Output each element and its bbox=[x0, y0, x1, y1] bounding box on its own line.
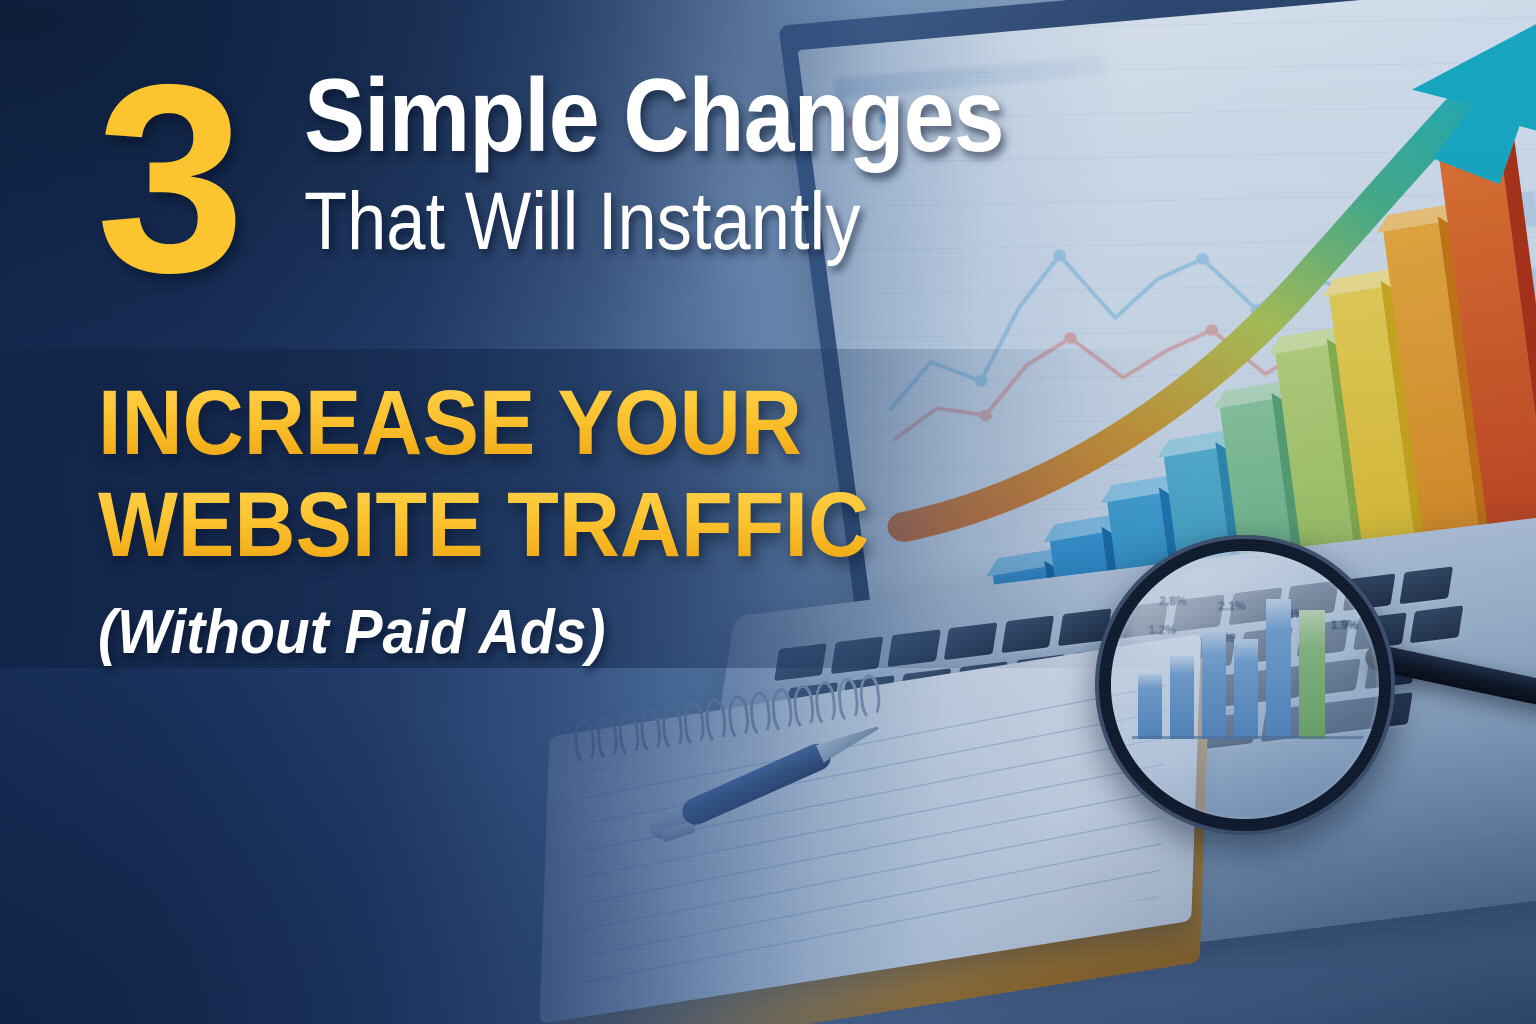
main-heading-subline: (Without Paid Ads) bbox=[98, 598, 1018, 668]
headline-numeral: 3 bbox=[96, 44, 239, 312]
hero-graphic: 2.8% 2.1% 2.6% 1.9% 1.2% 1.8% 3 bbox=[0, 0, 1536, 1024]
kicker-block: 3 Simple Changes That Will Instantly bbox=[96, 48, 1076, 328]
kicker-lines: Simple Changes That Will Instantly bbox=[304, 60, 1099, 268]
main-heading-line-2: WEBSITE TRAFFIC bbox=[98, 474, 1018, 576]
main-heading-block: INCREASE YOUR WEBSITE TRAFFIC (Without P… bbox=[98, 372, 1098, 668]
headline-line-1: Simple Changes bbox=[304, 60, 1004, 172]
main-heading-line-1: INCREASE YOUR bbox=[98, 372, 1018, 474]
headline-line-2: That Will Instantly bbox=[304, 176, 988, 268]
text-content: 3 Simple Changes That Will Instantly INC… bbox=[0, 0, 1536, 1024]
